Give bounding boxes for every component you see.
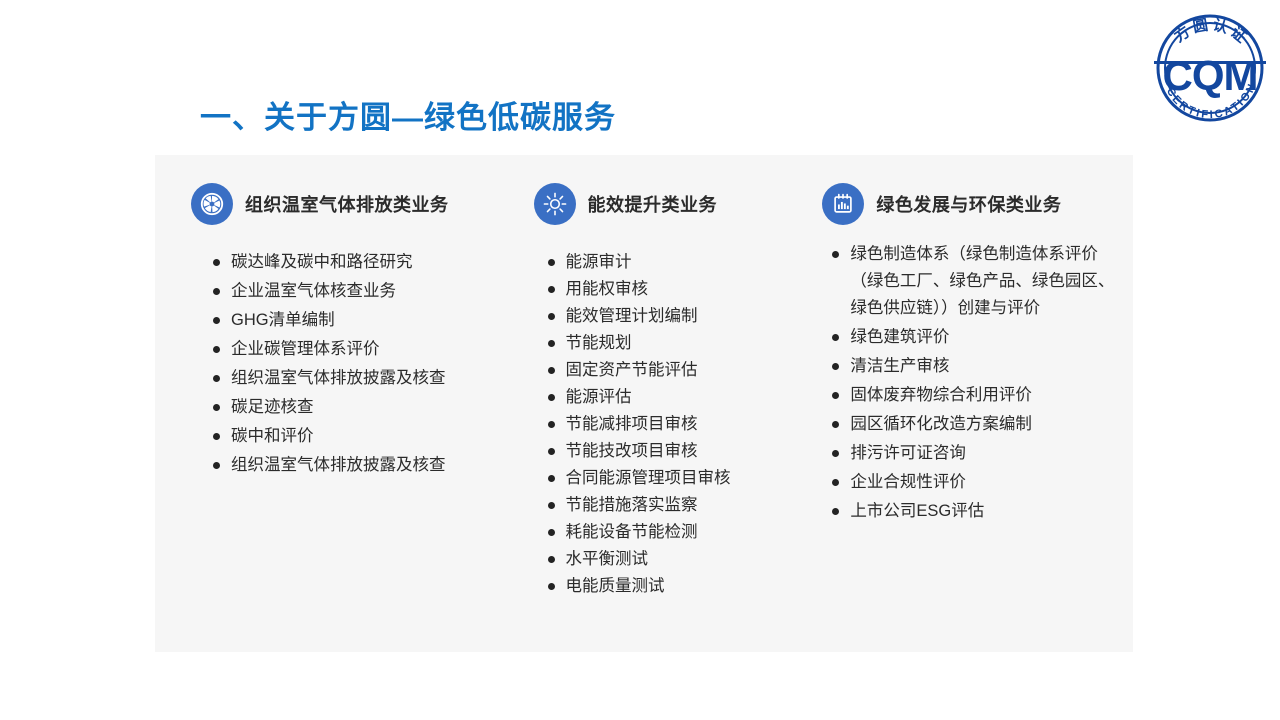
list-item: 能源评估 bbox=[548, 384, 809, 411]
list-item: 碳中和评价 bbox=[213, 423, 520, 450]
list-item: 电能质量测试 bbox=[548, 573, 809, 600]
list-item: 节能技改项目审核 bbox=[548, 438, 809, 465]
list-item: 上市公司ESG评估 bbox=[832, 498, 1127, 525]
page-title: 一、关于方圆—绿色低碳服务 bbox=[200, 92, 616, 137]
column-ghg-emissions: 组织温室气体排放类业务 碳达峰及碳中和路径研究 企业温室气体核查业务 GHG清单… bbox=[173, 181, 520, 652]
list-item: 能源审计 bbox=[548, 249, 809, 276]
column-title: 组织温室气体排放类业务 bbox=[245, 191, 449, 217]
list-item: 水平衡测试 bbox=[548, 546, 809, 573]
list-item: 碳达峰及碳中和路径研究 bbox=[213, 249, 520, 276]
list-item: 组织温室气体排放披露及核查 bbox=[213, 365, 520, 392]
aperture-icon bbox=[191, 183, 233, 225]
svg-text:CQM: CQM bbox=[1163, 52, 1258, 99]
column-energy-efficiency: 能效提升类业务 能源审计 用能权审核 能效管理计划编制 节能规划 固定资产节能评… bbox=[520, 181, 809, 652]
list-item: 合同能源管理项目审核 bbox=[548, 465, 809, 492]
sun-icon bbox=[534, 183, 576, 225]
list-item: 绿色建筑评价 bbox=[832, 324, 1127, 351]
list-item: 碳足迹核查 bbox=[213, 394, 520, 421]
service-list-energy-efficiency: 能源审计 用能权审核 能效管理计划编制 节能规划 固定资产节能评估 能源评估 节… bbox=[534, 249, 809, 600]
column-title: 绿色发展与环保类业务 bbox=[876, 191, 1061, 217]
column-title: 能效提升类业务 bbox=[588, 191, 718, 217]
list-item: 节能减排项目审核 bbox=[548, 411, 809, 438]
column-header-energy-efficiency: 能效提升类业务 bbox=[534, 181, 809, 227]
list-item: 企业碳管理体系评价 bbox=[213, 336, 520, 363]
list-item: 企业合规性评价 bbox=[832, 469, 1127, 496]
list-item: 组织温室气体排放披露及核查 bbox=[213, 452, 520, 479]
list-item: 用能权审核 bbox=[548, 276, 809, 303]
list-item: 节能规划 bbox=[548, 330, 809, 357]
svg-text:方圆认证: 方圆认证 bbox=[1171, 16, 1253, 49]
column-header-ghg-emissions: 组织温室气体排放类业务 bbox=[191, 181, 520, 227]
list-item: 固体废弃物综合利用评价 bbox=[832, 382, 1127, 409]
list-item: 耗能设备节能检测 bbox=[548, 519, 809, 546]
list-item: 绿色制造体系（绿色制造体系评价（绿色工厂、绿色产品、绿色园区、绿色供应链））创建… bbox=[832, 241, 1127, 322]
clipboard-chart-icon bbox=[822, 183, 864, 225]
list-item: 企业温室气体核查业务 bbox=[213, 278, 520, 305]
service-list-green-development: 绿色制造体系（绿色制造体系评价（绿色工厂、绿色产品、绿色园区、绿色供应链））创建… bbox=[822, 241, 1127, 525]
column-green-development: 绿色发展与环保类业务 绿色制造体系（绿色制造体系评价（绿色工厂、绿色产品、绿色园… bbox=[808, 181, 1127, 652]
list-item: 清洁生产审核 bbox=[832, 353, 1127, 380]
service-list-ghg-emissions: 碳达峰及碳中和路径研究 企业温室气体核查业务 GHG清单编制 企业碳管理体系评价… bbox=[191, 249, 520, 479]
list-item: 园区循环化改造方案编制 bbox=[832, 411, 1127, 438]
services-columns: 组织温室气体排放类业务 碳达峰及碳中和路径研究 企业温室气体核查业务 GHG清单… bbox=[155, 155, 1133, 652]
column-header-green-development: 绿色发展与环保类业务 bbox=[822, 181, 1127, 227]
list-item: 能效管理计划编制 bbox=[548, 303, 809, 330]
list-item: 固定资产节能评估 bbox=[548, 357, 809, 384]
list-item: 排污许可证咨询 bbox=[832, 440, 1127, 467]
services-panel: 组织温室气体排放类业务 碳达峰及碳中和路径研究 企业温室气体核查业务 GHG清单… bbox=[155, 155, 1133, 652]
cqm-certification-logo: 方圆认证 CERTIFICATION CQM bbox=[1148, 8, 1272, 128]
list-item: GHG清单编制 bbox=[213, 307, 520, 334]
list-item: 节能措施落实监察 bbox=[548, 492, 809, 519]
